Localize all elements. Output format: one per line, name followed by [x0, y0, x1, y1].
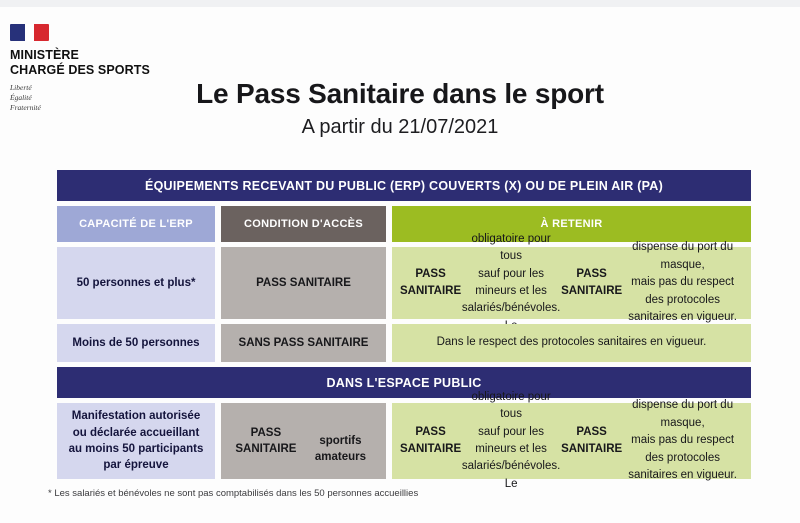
column-header-notes: À RETENIR	[392, 206, 751, 242]
column-header-row: CAPACITÉ DE L'ERP CONDITION D'ACCÈS À RE…	[57, 206, 751, 242]
footnote: * Les salariés et bénévoles ne sont pas …	[48, 488, 418, 499]
rules-table: ÉQUIPEMENTS RECEVANT DU PUBLIC (ERP) COU…	[57, 170, 751, 479]
section-bar-espace-public: DANS L'ESPACE PUBLIC	[57, 367, 751, 398]
top-strip	[0, 0, 800, 7]
cell-condition: SANS PASS SANITAIRE	[221, 324, 386, 362]
page-title: Le Pass Sanitaire dans le sport	[0, 78, 800, 110]
section-bar-erp: ÉQUIPEMENTS RECEVANT DU PUBLIC (ERP) COU…	[57, 170, 751, 201]
table-row: Moins de 50 personnes SANS PASS SANITAIR…	[57, 324, 751, 362]
page-subtitle: A partir du 21/07/2021	[0, 116, 800, 139]
cell-notes: Dans le respect des protocoles sanitaire…	[392, 324, 751, 362]
table-row: 50 personnes et plus* PASS SANITAIRE PAS…	[57, 247, 751, 319]
cell-capacity: Moins de 50 personnes	[57, 324, 215, 362]
table-row: Manifestation autorisée ou déclarée accu…	[57, 403, 751, 479]
ministry-name: MINISTÈRE CHARGÉ DES SPORTS	[10, 48, 180, 78]
cell-condition: PASS SANITAIRE	[221, 247, 386, 319]
cell-capacity: Manifestation autorisée ou déclarée accu…	[57, 403, 215, 479]
french-flag-icon	[10, 24, 54, 41]
title-block: Le Pass Sanitaire dans le sport A partir…	[0, 78, 800, 139]
infographic-page: MINISTÈRE CHARGÉ DES SPORTS Liberté Égal…	[0, 0, 800, 523]
cell-capacity: 50 personnes et plus*	[57, 247, 215, 319]
cell-condition: PASS SANITAIREsportifs amateurs	[221, 403, 386, 479]
column-header-capacity: CAPACITÉ DE L'ERP	[57, 206, 215, 242]
cell-notes: PASS SANITAIRE obligatoire pour toussauf…	[392, 403, 751, 479]
column-header-condition: CONDITION D'ACCÈS	[221, 206, 386, 242]
cell-notes: PASS SANITAIRE obligatoire pour toussauf…	[392, 247, 751, 319]
